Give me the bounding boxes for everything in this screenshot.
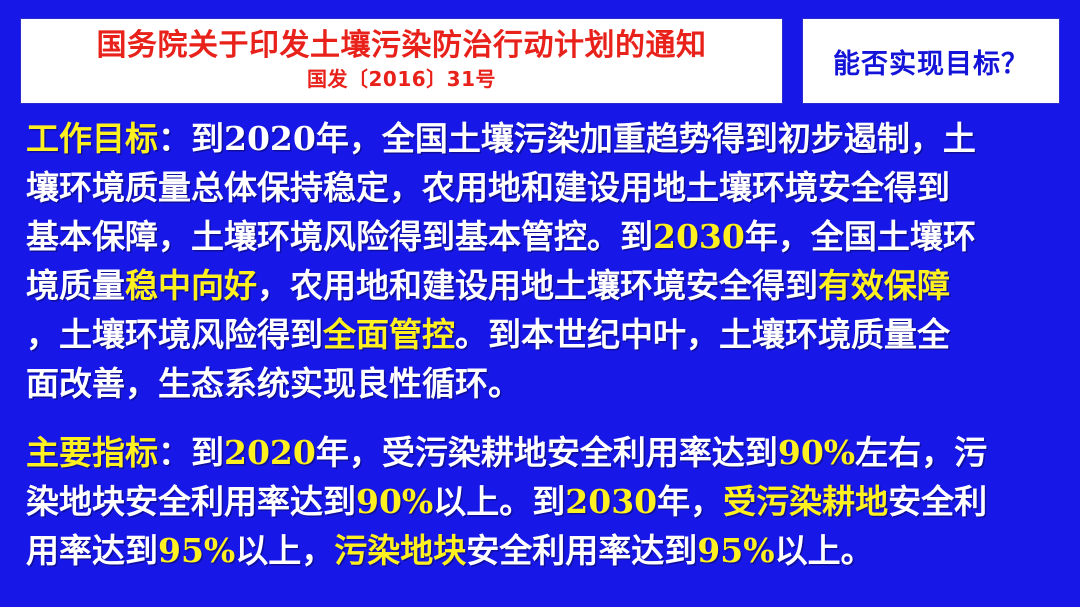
question-text: 能否实现目标？ — [833, 42, 1029, 81]
text-run: 染地块安全利用率达到 — [26, 482, 356, 521]
text-run: 年，受污染耕地安全利用率达到 — [316, 433, 778, 472]
text-line: 面改善，生态系统实现良性循环。 — [26, 359, 1062, 408]
text-run: 年， — [657, 482, 723, 521]
text-run: 以上。 — [775, 531, 874, 570]
text-run: ，农用地和建设用地土壤环境安全得到 — [257, 266, 818, 305]
text-run: 。到本世纪中叶，土壤环境质量全 — [455, 315, 950, 354]
text-run: 安全利 — [888, 482, 987, 521]
paragraph-main-indicators: 主要指标：到2020年，受污染耕地安全利用率达到90%左右，污染地块安全利用率达… — [26, 428, 1062, 575]
policy-title: 国务院关于印发土壤污染防治行动计划的通知 — [97, 28, 707, 63]
text-run: ：到 — [158, 433, 224, 472]
text-line: 主要指标：到2020年，受污染耕地安全利用率达到90%左右，污 — [26, 428, 1062, 477]
highlighted-text-run: 污染地块 — [334, 531, 466, 570]
highlighted-text-run: 95% — [697, 531, 774, 570]
text-run: 面改善，生态系统实现良性循环。 — [26, 364, 521, 403]
highlighted-text-run: 90% — [778, 433, 855, 472]
highlighted-text-run: 受污染耕地 — [723, 482, 888, 521]
highlighted-text-run: 2020 — [224, 433, 316, 472]
text-line: 染地块安全利用率达到90%以上。到2030年，受污染耕地安全利 — [26, 477, 1062, 526]
text-run: 年，全国土壤污染加重趋势得到初步遏制，土 — [316, 119, 976, 158]
question-box: 能否实现目标？ — [802, 18, 1060, 104]
text-run: 左右，污 — [855, 433, 987, 472]
highlighted-text-run: 90% — [356, 482, 433, 521]
highlighted-text-run: 2030 — [653, 217, 745, 256]
text-run: 壤环境质量总体保持稳定，农用地和建设用地土壤环境安全得到 — [26, 168, 950, 207]
highlighted-text-run: 2030 — [565, 482, 657, 521]
slide-canvas: 国务院关于印发土壤污染防治行动计划的通知 国发〔2016〕31号 能否实现目标？… — [0, 0, 1080, 607]
text-run: 2020 — [224, 119, 316, 158]
highlighted-text-run: 全面管控 — [323, 315, 455, 354]
text-line: 用率达到95%以上，污染地块安全利用率达到95%以上。 — [26, 526, 1062, 575]
policy-document-number: 国发〔2016〕31号 — [307, 67, 496, 92]
highlighted-text-run: 95% — [158, 531, 235, 570]
text-run: ：到 — [158, 119, 224, 158]
policy-title-box: 国务院关于印发土壤污染防治行动计划的通知 国发〔2016〕31号 — [20, 18, 783, 104]
text-line: 境质量稳中向好，农用地和建设用地土壤环境安全得到有效保障 — [26, 261, 1062, 310]
text-run: 用率达到 — [26, 531, 158, 570]
text-line: 基本保障，土壤环境风险得到基本管控。到2030年，全国土壤环 — [26, 212, 1062, 261]
highlighted-text-run: 稳中向好 — [125, 266, 257, 305]
text-run: 以上， — [235, 531, 334, 570]
text-run: 以上。到 — [433, 482, 565, 521]
text-run: ，土壤环境风险得到 — [26, 315, 323, 354]
text-line: 壤环境质量总体保持稳定，农用地和建设用地土壤环境安全得到 — [26, 163, 1062, 212]
highlighted-text-run: 主要指标 — [26, 433, 158, 472]
text-run: 境质量 — [26, 266, 125, 305]
text-run: 年，全国土壤环 — [745, 217, 976, 256]
text-run: 安全利用率达到 — [466, 531, 697, 570]
paragraph-work-goals: 工作目标：到2020年，全国土壤污染加重趋势得到初步遏制，土壤环境质量总体保持稳… — [26, 114, 1062, 408]
highlighted-text-run: 工作目标 — [26, 119, 158, 158]
text-line: 工作目标：到2020年，全国土壤污染加重趋势得到初步遏制，土 — [26, 114, 1062, 163]
slide-body: 工作目标：到2020年，全国土壤污染加重趋势得到初步遏制，土壤环境质量总体保持稳… — [26, 114, 1062, 575]
highlighted-text-run: 有效保障 — [818, 266, 950, 305]
text-line: ，土壤环境风险得到全面管控。到本世纪中叶，土壤环境质量全 — [26, 310, 1062, 359]
text-run: 基本保障，土壤环境风险得到基本管控。到 — [26, 217, 653, 256]
